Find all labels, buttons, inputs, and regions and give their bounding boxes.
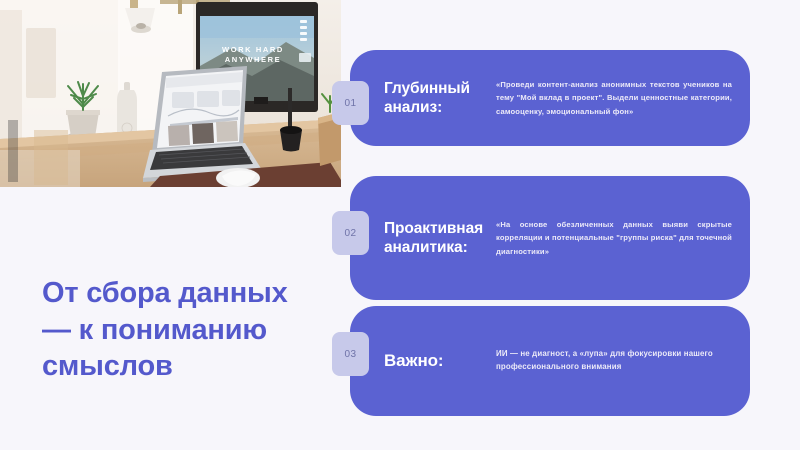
card-item[interactable]: Глубинный анализ: «Проведи контент-анали… xyxy=(350,50,750,146)
card-item[interactable]: Проактивная аналитика: «На основе обезли… xyxy=(350,176,750,300)
card-item[interactable]: Важно: ИИ — не диагност, а «лупа» для фо… xyxy=(350,306,750,416)
card-heading: Важно: xyxy=(384,350,496,371)
card-number-badge: 01 xyxy=(332,81,369,125)
cards-container: Глубинный анализ: «Проведи контент-анали… xyxy=(0,0,800,450)
card-body: «Проведи контент-анализ анонимных тексто… xyxy=(496,78,732,117)
card-heading: Глубинный анализ: xyxy=(384,79,496,117)
card-heading: Проактивная аналитика: xyxy=(384,219,496,257)
card-number-badge: 03 xyxy=(332,332,369,376)
card-body: ИИ — не диагност, а «лупа» для фокусиров… xyxy=(496,348,732,373)
card-body: «На основе обезличенных данных выяви скр… xyxy=(496,218,732,257)
card-number-badge: 02 xyxy=(332,211,369,255)
